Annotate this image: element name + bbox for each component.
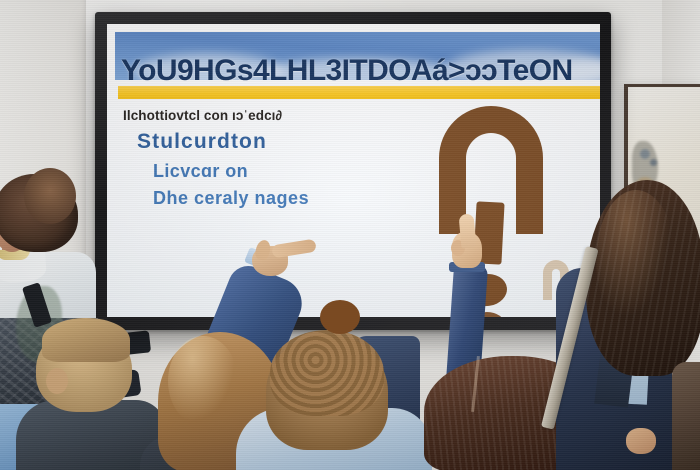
presenter-hand xyxy=(626,428,656,454)
index-finger xyxy=(271,239,316,259)
display-screen[interactable]: YoU9HGs4LHL3ITDOAá>ɔɔTeON Ilchottiovtcl … xyxy=(107,24,600,317)
artwork-shape xyxy=(650,159,657,166)
slide-title: YoU9HGs4LHL3ITDOAá>ɔɔTeON xyxy=(121,51,596,91)
curly-hair-highlight xyxy=(24,168,76,224)
slide-accent-rule xyxy=(118,86,600,99)
pointing-hand-up xyxy=(448,214,484,268)
background-figure-edge xyxy=(672,362,700,470)
hair-highlight xyxy=(168,336,238,426)
ear xyxy=(46,368,68,394)
pointing-hand-right xyxy=(252,236,310,276)
wall-display[interactable]: YoU9HGs4LHL3ITDOAá>ɔɔTeON Ilchottiovtcl … xyxy=(95,12,611,330)
photo-scene: YoU9HGs4LHL3ITDOAá>ɔɔTeON Ilchottiovtcl … xyxy=(0,0,700,470)
question-mark-dot-overflow xyxy=(320,300,360,334)
curly-short-hair xyxy=(270,330,384,416)
question-mark-icon xyxy=(431,106,561,317)
index-finger xyxy=(459,213,477,248)
short-hair xyxy=(42,318,130,362)
hair-strands xyxy=(586,180,700,376)
artwork-shape xyxy=(640,149,650,159)
